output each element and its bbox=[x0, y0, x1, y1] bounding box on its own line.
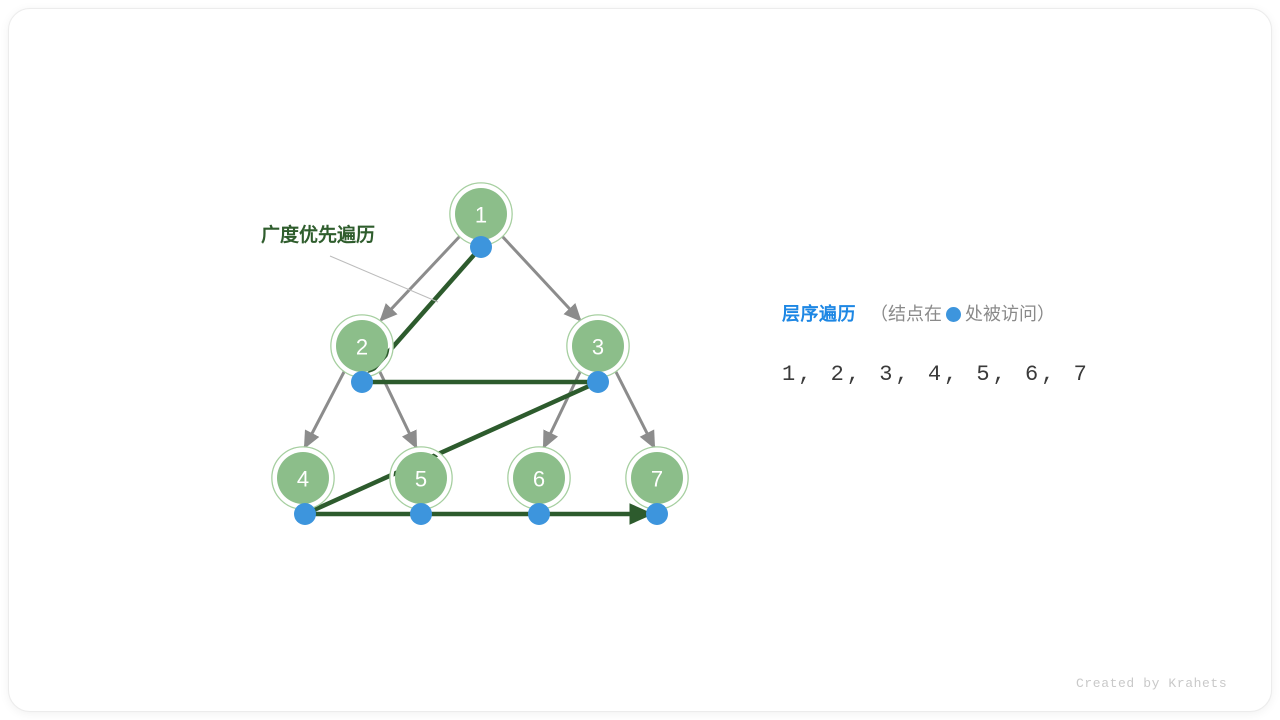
screenshot-canvas: 1 2 3 4 bbox=[0, 0, 1280, 720]
visit-dot-6 bbox=[528, 503, 550, 525]
tree-node-2[interactable]: 2 bbox=[331, 315, 393, 377]
node-label: 6 bbox=[533, 467, 545, 492]
tree-node-4[interactable]: 4 bbox=[272, 447, 334, 509]
tree-node-6[interactable]: 6 bbox=[508, 447, 570, 509]
traversal-heading: 层序遍历 bbox=[782, 300, 856, 326]
node-label: 3 bbox=[592, 335, 604, 360]
node-label: 7 bbox=[651, 467, 663, 492]
traversal-info-panel: 层序遍历（结点在处被访问） 1, 2, 3, 4, 5, 6, 7 bbox=[782, 300, 1202, 387]
traversal-heading-row: 层序遍历（结点在处被访问） bbox=[782, 300, 1202, 326]
visit-dot-5 bbox=[410, 503, 432, 525]
bfs-annotation-leader-line bbox=[330, 256, 438, 302]
traversal-note-prefix: （结点在 bbox=[870, 304, 942, 324]
traversal-sequence: 1, 2, 3, 4, 5, 6, 7 bbox=[782, 362, 1202, 387]
visit-dot-2 bbox=[351, 371, 373, 393]
tree-edge-2-4 bbox=[305, 370, 345, 447]
visit-dot-4 bbox=[294, 503, 316, 525]
node-label: 1 bbox=[475, 203, 487, 228]
node-label: 4 bbox=[297, 467, 309, 492]
tree-edge-1-3 bbox=[501, 235, 580, 320]
bfs-annotation-label: 广度优先遍历 bbox=[261, 223, 375, 246]
footer-credit: Created by Krahets bbox=[1076, 676, 1227, 691]
tree-node-1[interactable]: 1 bbox=[450, 183, 512, 245]
tree-node-5[interactable]: 5 bbox=[390, 447, 452, 509]
node-label: 2 bbox=[356, 335, 368, 360]
visit-dot-1 bbox=[470, 236, 492, 258]
visit-dot-7 bbox=[646, 503, 668, 525]
node-label: 5 bbox=[415, 467, 427, 492]
tree-node-3[interactable]: 3 bbox=[567, 315, 629, 377]
tree-edge-1-2 bbox=[381, 235, 461, 320]
bfs-annotation-group: 广度优先遍历 bbox=[261, 223, 438, 302]
traversal-note: （结点在处被访问） bbox=[870, 300, 1055, 326]
tree-edge-3-7 bbox=[615, 370, 654, 447]
visit-dot-icon bbox=[946, 307, 961, 322]
visit-dot-3 bbox=[587, 371, 609, 393]
traversal-note-suffix: 处被访问） bbox=[965, 304, 1055, 324]
tree-node-7[interactable]: 7 bbox=[626, 447, 688, 509]
